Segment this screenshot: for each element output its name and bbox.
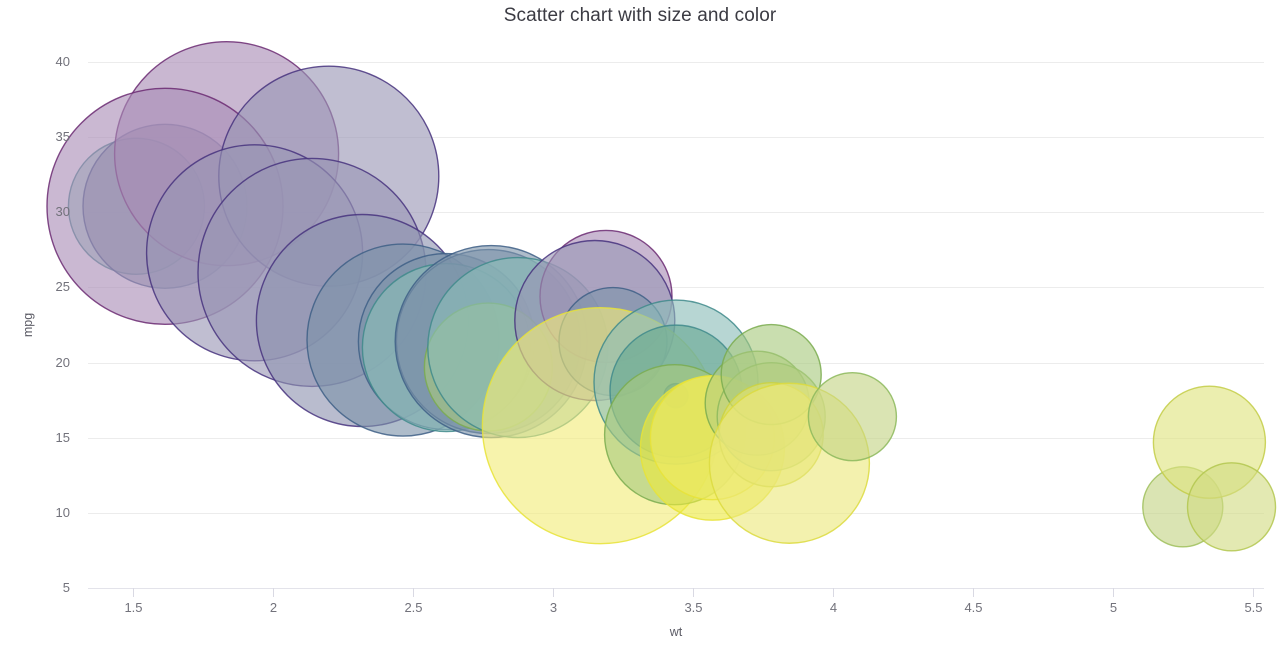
y-axis-tick-label: 40 (56, 54, 70, 69)
x-axis-tick-label: 4.5 (964, 600, 982, 615)
x-axis-tick-label: 2 (270, 600, 277, 615)
y-axis-title: mpg (21, 313, 35, 337)
x-axis-tick-label: 5 (1110, 600, 1117, 615)
x-axis-tick-label: 4 (830, 600, 837, 615)
x-axis-tick-label: 2.5 (404, 600, 422, 615)
x-axis-tick-label: 3.5 (684, 600, 702, 615)
y-axis-tick-label: 5 (63, 580, 70, 595)
y-axis-tick-label: 15 (56, 430, 70, 445)
scatter-bubble[interactable] (1188, 463, 1276, 551)
scatter-chart-root: Scatter chart with size and color 510152… (0, 0, 1280, 663)
y-axis-tick-label: 25 (56, 279, 70, 294)
y-axis-tick-label: 30 (56, 204, 70, 219)
scatter-bubble[interactable] (808, 373, 896, 461)
y-axis-tick-label: 35 (56, 129, 70, 144)
y-axis-tick-label: 20 (56, 355, 70, 370)
x-axis-tick-label: 1.5 (124, 600, 142, 615)
y-axis-tick-label: 10 (56, 505, 70, 520)
x-axis-tick-label: 5.5 (1244, 600, 1262, 615)
bubbles-layer[interactable] (47, 42, 1276, 551)
x-axis-tick-label: 3 (550, 600, 557, 615)
plot-area[interactable]: 5101520253035401.522.533.544.555.5wtmpg (0, 0, 1280, 663)
axis-layer (88, 588, 1264, 597)
x-axis-title: wt (669, 625, 683, 639)
